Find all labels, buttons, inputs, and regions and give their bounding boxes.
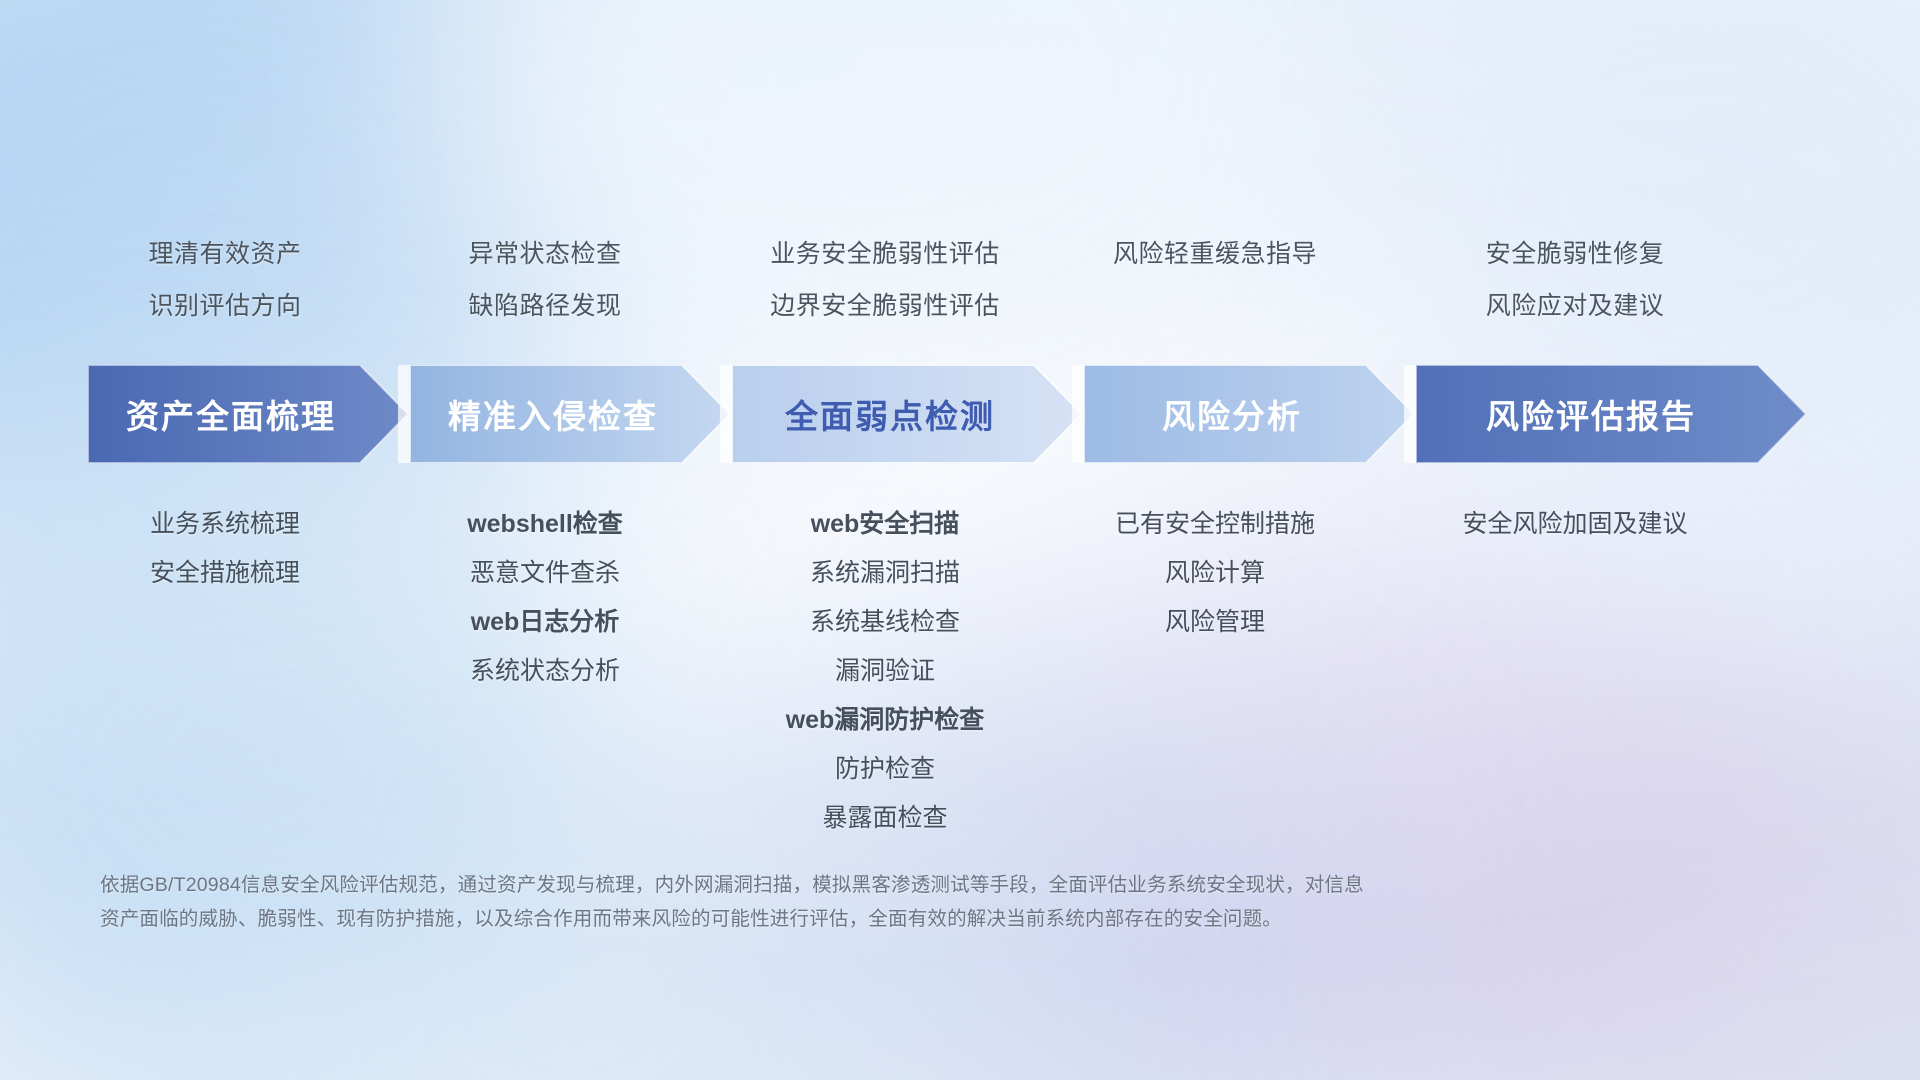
activity-item: 系统漏洞扫描 — [700, 549, 1070, 598]
stage-outcomes-risk-analysis: 风险轻重缓急指导 — [1030, 228, 1400, 280]
outcome-text: 理清有效资产 — [75, 228, 375, 280]
chevron-label: 风险评估报告 — [1486, 390, 1696, 438]
activity-item: 风险管理 — [1030, 598, 1400, 647]
slide-canvas: 理清有效资产 识别评估方向 异常状态检查 缺陷路径发现 业务安全脆弱性评估 边界… — [0, 0, 1920, 1080]
activity-item: 已有安全控制措施 — [1030, 500, 1400, 549]
outcome-text: 缺陷路径发现 — [395, 280, 695, 332]
stage-activities-asset-inventory: 业务系统梳理 安全措施梳理 — [75, 500, 375, 598]
outcome-text: 边界安全脆弱性评估 — [700, 280, 1070, 332]
activity-item: web日志分析 — [395, 598, 695, 647]
footer-description: 依据GB/T20984信息安全风险评估规范，通过资产发现与梳理，内外网漏洞扫描，… — [100, 868, 1740, 936]
chevron-stage-assessment-report[interactable]: 风险评估报告 — [1416, 365, 1806, 463]
activity-item: webshell检查 — [395, 500, 695, 549]
chevron-stage-asset-inventory[interactable]: 资产全面梳理 — [88, 365, 408, 463]
outcome-text: 安全脆弱性修复 — [1410, 228, 1740, 280]
outcome-text: 业务安全脆弱性评估 — [700, 228, 1070, 280]
activity-item: 安全风险加固及建议 — [1395, 500, 1755, 549]
stage-outcomes-row: 理清有效资产 识别评估方向 异常状态检查 缺陷路径发现 业务安全脆弱性评估 边界… — [0, 228, 1920, 348]
activity-item: 恶意文件查杀 — [395, 549, 695, 598]
stage-activities-risk-analysis: 已有安全控制措施 风险计算 风险管理 — [1030, 500, 1400, 647]
activity-item: 防护检查 — [700, 745, 1070, 794]
activity-item: 漏洞验证 — [700, 647, 1070, 696]
activity-item: 安全措施梳理 — [75, 549, 375, 598]
stage-outcomes-weakness-detection: 业务安全脆弱性评估 边界安全脆弱性评估 — [700, 228, 1070, 332]
footer-line: 依据GB/T20984信息安全风险评估规范，通过资产发现与梳理，内外网漏洞扫描，… — [100, 868, 1740, 902]
activity-item: 风险计算 — [1030, 549, 1400, 598]
chevron-stage-intrusion-check[interactable]: 精准入侵检查 — [410, 365, 730, 463]
chevron-label: 风险分析 — [1162, 390, 1302, 438]
stage-outcomes-assessment-report: 安全脆弱性修复 风险应对及建议 — [1410, 228, 1740, 332]
process-chevron-band: 资产全面梳理 — [0, 365, 1920, 463]
activity-item: web安全扫描 — [700, 500, 1070, 549]
outcome-text: 风险应对及建议 — [1410, 280, 1740, 332]
chevron-stage-risk-analysis[interactable]: 风险分析 — [1084, 365, 1414, 463]
chevron-label: 全面弱点检测 — [785, 390, 995, 438]
outcome-text: 异常状态检查 — [395, 228, 695, 280]
activity-item: 系统状态分析 — [395, 647, 695, 696]
outcome-text: 风险轻重缓急指导 — [1030, 228, 1400, 280]
outcome-text: 识别评估方向 — [75, 280, 375, 332]
chevron-label: 精准入侵检查 — [448, 390, 658, 438]
stage-activities-assessment-report: 安全风险加固及建议 — [1395, 500, 1755, 549]
activity-item: 系统基线检查 — [700, 598, 1070, 647]
activity-item: 业务系统梳理 — [75, 500, 375, 549]
chevron-stage-weakness-detection[interactable]: 全面弱点检测 — [732, 365, 1082, 463]
chevron-label: 资产全面梳理 — [126, 390, 336, 438]
stage-activities-weakness-detection: web安全扫描 系统漏洞扫描 系统基线检查 漏洞验证 web漏洞防护检查 防护检… — [700, 500, 1070, 843]
stage-outcomes-intrusion-check: 异常状态检查 缺陷路径发现 — [395, 228, 695, 332]
stage-outcomes-asset-inventory: 理清有效资产 识别评估方向 — [75, 228, 375, 332]
activity-item: web漏洞防护检查 — [700, 696, 1070, 745]
activity-item: 暴露面检查 — [700, 794, 1070, 843]
diagram-content: 理清有效资产 识别评估方向 异常状态检查 缺陷路径发现 业务安全脆弱性评估 边界… — [0, 0, 1920, 1080]
footer-line: 资产面临的威胁、脆弱性、现有防护措施，以及综合作用而带来风险的可能性进行评估，全… — [100, 902, 1740, 936]
stage-activities-intrusion-check: webshell检查 恶意文件查杀 web日志分析 系统状态分析 — [395, 500, 695, 696]
